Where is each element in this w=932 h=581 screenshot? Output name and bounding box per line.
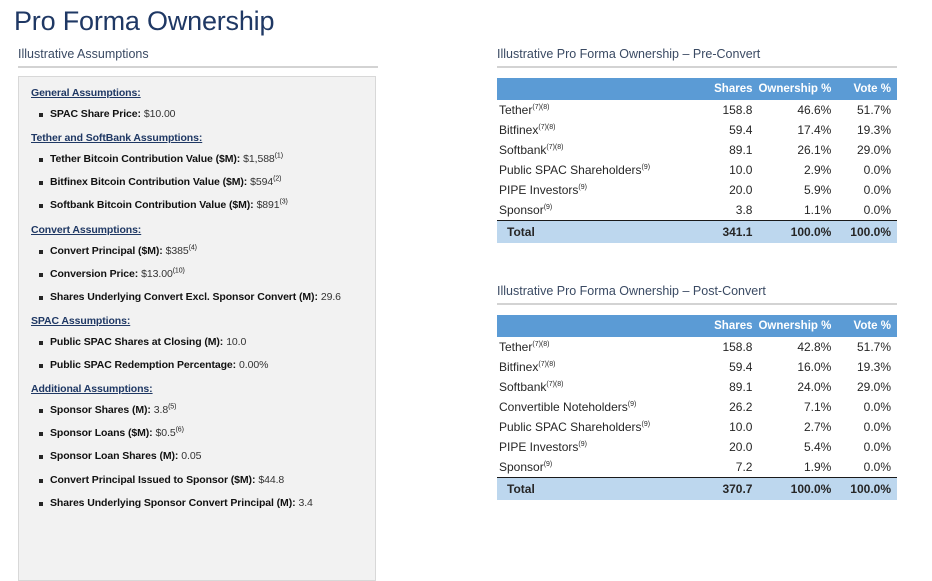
assumption-item: Public SPAC Shares at Closing (M):10.0 xyxy=(31,336,363,349)
assumptions-section-header: Illustrative Assumptions xyxy=(18,47,378,68)
assumption-value: $13.00 xyxy=(141,268,173,280)
assumption-value: 3.8 xyxy=(154,404,168,416)
table-row: Public SPAC Shareholders(9)10.02.9%0.0% xyxy=(497,160,897,180)
row-label: Tether(7)(8) xyxy=(497,100,689,120)
assumption-label: Sponsor Shares (M): xyxy=(50,404,151,416)
table-row: Softbank(7)(8)89.126.1%29.0% xyxy=(497,140,897,160)
footnote-ref: (9) xyxy=(578,184,587,191)
bullet-square-icon xyxy=(39,432,43,436)
column-header: Vote % xyxy=(837,78,897,100)
vote-value: 29.0% xyxy=(837,140,897,160)
shares-value: 89.1 xyxy=(689,377,758,397)
footnote-ref: (10) xyxy=(173,267,185,274)
ownership-tables-column: Illustrative Pro Forma Ownership – Pre-C… xyxy=(497,47,897,500)
row-label-text: Public SPAC Shareholders xyxy=(499,163,642,177)
column-header: Ownership % xyxy=(758,315,837,337)
shares-value: 89.1 xyxy=(689,140,758,160)
assumption-item: SPAC Share Price:$10.00 xyxy=(31,108,363,121)
bullet-square-icon xyxy=(39,158,43,162)
table-row: Public SPAC Shareholders(9)10.02.7%0.0% xyxy=(497,417,897,437)
row-label-text: Tether xyxy=(499,340,532,354)
ownership-value: 24.0% xyxy=(758,377,837,397)
total-shares-value: 341.1 xyxy=(689,221,758,244)
assumption-item: Bitfinex Bitcoin Contribution Value ($M)… xyxy=(31,176,363,189)
shares-value: 59.4 xyxy=(689,357,758,377)
assumption-label: Convert Principal ($M): xyxy=(50,245,163,257)
vote-value: 0.0% xyxy=(837,180,897,200)
ownership-value: 1.9% xyxy=(758,457,837,478)
table-row: Bitfinex(7)(8)59.417.4%19.3% xyxy=(497,120,897,140)
post-convert-table-block: Illustrative Pro Forma Ownership – Post-… xyxy=(497,284,897,500)
vote-value: 0.0% xyxy=(837,437,897,457)
assumption-item: Public SPAC Redemption Percentage:0.00% xyxy=(31,359,363,372)
shares-value: 26.2 xyxy=(689,397,758,417)
footnote-ref: (9) xyxy=(628,401,637,408)
row-label: Sponsor(9) xyxy=(497,200,689,221)
assumption-value: $0.5 xyxy=(156,427,176,439)
vote-value: 0.0% xyxy=(837,417,897,437)
row-label: Sponsor(9) xyxy=(497,457,689,478)
bullet-square-icon xyxy=(39,113,43,117)
table-row: Tether(7)(8)158.842.8%51.7% xyxy=(497,337,897,357)
footnote-ref: (7)(8) xyxy=(546,381,563,388)
footnote-ref: (9) xyxy=(578,441,587,448)
table-header-row: SharesOwnership %Vote % xyxy=(497,78,897,100)
total-label: Total xyxy=(497,478,689,501)
page-title: Pro Forma Ownership xyxy=(14,6,274,37)
column-header: Ownership % xyxy=(758,78,837,100)
row-label-text: PIPE Investors xyxy=(499,183,578,197)
ownership-value: 16.0% xyxy=(758,357,837,377)
assumption-item: Shares Underlying Convert Excl. Sponsor … xyxy=(31,291,363,304)
vote-value: 29.0% xyxy=(837,377,897,397)
assumption-group-title: Tether and SoftBank Assumptions: xyxy=(31,132,363,144)
assumption-value: $594 xyxy=(250,176,273,188)
bullet-square-icon xyxy=(39,364,43,368)
row-label: Convertible Noteholders(9) xyxy=(497,397,689,417)
ownership-value: 17.4% xyxy=(758,120,837,140)
assumption-item: Softbank Bitcoin Contribution Value ($M)… xyxy=(31,199,363,212)
bullet-square-icon xyxy=(39,409,43,413)
assumption-label: Softbank Bitcoin Contribution Value ($M)… xyxy=(50,199,254,211)
ownership-value: 42.8% xyxy=(758,337,837,357)
footnote-ref: (2) xyxy=(273,176,281,183)
bullet-square-icon xyxy=(39,250,43,254)
assumption-label: Sponsor Loans ($M): xyxy=(50,427,153,439)
footnote-ref: (9) xyxy=(642,164,651,171)
shares-value: 20.0 xyxy=(689,437,758,457)
shares-value: 158.8 xyxy=(689,100,758,120)
column-header: Vote % xyxy=(837,315,897,337)
assumption-group-title: Convert Assumptions: xyxy=(31,224,363,236)
assumption-value: 0.05 xyxy=(181,450,201,462)
assumption-label: Tether Bitcoin Contribution Value ($M): xyxy=(50,153,240,165)
assumption-label: Shares Underlying Convert Excl. Sponsor … xyxy=(50,291,318,303)
ownership-value: 46.6% xyxy=(758,100,837,120)
ownership-value: 2.7% xyxy=(758,417,837,437)
bullet-square-icon xyxy=(39,455,43,459)
assumption-label: Public SPAC Shares at Closing (M): xyxy=(50,336,223,348)
total-vote-value: 100.0% xyxy=(837,478,897,501)
ownership-value: 26.1% xyxy=(758,140,837,160)
row-label: Bitfinex(7)(8) xyxy=(497,357,689,377)
column-header xyxy=(497,78,689,100)
shares-value: 3.8 xyxy=(689,200,758,221)
bullet-square-icon xyxy=(39,296,43,300)
vote-value: 0.0% xyxy=(837,200,897,221)
table-row: Softbank(7)(8)89.124.0%29.0% xyxy=(497,377,897,397)
table-total-row: Total341.1100.0%100.0% xyxy=(497,221,897,244)
assumption-item: Conversion Price:$13.00(10) xyxy=(31,268,363,281)
footnote-ref: (7)(8) xyxy=(532,341,549,348)
assumption-group-title: SPAC Assumptions: xyxy=(31,315,363,327)
ownership-value: 2.9% xyxy=(758,160,837,180)
table-row: Sponsor(9)7.21.9%0.0% xyxy=(497,457,897,478)
assumption-value: $891 xyxy=(257,199,280,211)
row-label: PIPE Investors(9) xyxy=(497,437,689,457)
total-vote-value: 100.0% xyxy=(837,221,897,244)
assumption-item: Shares Underlying Sponsor Convert Princi… xyxy=(31,497,363,510)
shares-value: 10.0 xyxy=(689,417,758,437)
shares-value: 20.0 xyxy=(689,180,758,200)
total-ownership-value: 100.0% xyxy=(758,478,837,501)
total-shares-value: 370.7 xyxy=(689,478,758,501)
assumption-item: Tether Bitcoin Contribution Value ($M):$… xyxy=(31,153,363,166)
table-row: Tether(7)(8)158.846.6%51.7% xyxy=(497,100,897,120)
table-row: PIPE Investors(9)20.05.4%0.0% xyxy=(497,437,897,457)
assumptions-column: Illustrative Assumptions General Assumpt… xyxy=(18,47,378,581)
post-convert-section-header: Illustrative Pro Forma Ownership – Post-… xyxy=(497,284,897,305)
assumption-value: $44.8 xyxy=(258,474,284,486)
assumption-label: Shares Underlying Sponsor Convert Princi… xyxy=(50,497,296,509)
assumption-group-title: Additional Assumptions: xyxy=(31,383,363,395)
bullet-square-icon xyxy=(39,204,43,208)
assumption-value: 0.00% xyxy=(239,359,268,371)
row-label: PIPE Investors(9) xyxy=(497,180,689,200)
pre-convert-ownership-table: SharesOwnership %Vote %Tether(7)(8)158.8… xyxy=(497,78,897,243)
assumption-label: Public SPAC Redemption Percentage: xyxy=(50,359,236,371)
assumption-value: 3.4 xyxy=(299,497,313,509)
assumption-label: Sponsor Loan Shares (M): xyxy=(50,450,178,462)
ownership-value: 5.4% xyxy=(758,437,837,457)
row-label-text: Convertible Noteholders xyxy=(499,400,628,414)
row-label-text: Softbank xyxy=(499,380,546,394)
assumption-value: 10.0 xyxy=(226,336,246,348)
footnote-ref: (5) xyxy=(168,404,176,411)
bullet-square-icon xyxy=(39,502,43,506)
row-label-text: Bitfinex xyxy=(499,123,538,137)
bullet-square-icon xyxy=(39,341,43,345)
pre-convert-section-header: Illustrative Pro Forma Ownership – Pre-C… xyxy=(497,47,897,68)
row-label: Public SPAC Shareholders(9) xyxy=(497,160,689,180)
row-label-text: Tether xyxy=(499,103,532,117)
assumption-item: Sponsor Shares (M):3.8(5) xyxy=(31,404,363,417)
row-label: Public SPAC Shareholders(9) xyxy=(497,417,689,437)
bullet-square-icon xyxy=(39,181,43,185)
table-total-row: Total370.7100.0%100.0% xyxy=(497,478,897,501)
assumption-label: SPAC Share Price: xyxy=(50,108,141,120)
footnote-ref: (1) xyxy=(275,153,283,160)
assumption-group-title: General Assumptions: xyxy=(31,87,363,99)
footnote-ref: (9) xyxy=(642,421,651,428)
vote-value: 0.0% xyxy=(837,457,897,478)
table-row: Sponsor(9)3.81.1%0.0% xyxy=(497,200,897,221)
row-label: Softbank(7)(8) xyxy=(497,377,689,397)
ownership-value: 5.9% xyxy=(758,180,837,200)
assumption-value: $385 xyxy=(166,245,189,257)
footnote-ref: (6) xyxy=(176,427,184,434)
assumption-item: Convert Principal ($M):$385(4) xyxy=(31,245,363,258)
footnote-ref: (7)(8) xyxy=(546,144,563,151)
footnote-ref: (9) xyxy=(544,461,553,468)
total-ownership-value: 100.0% xyxy=(758,221,837,244)
assumption-value: $1,588 xyxy=(243,153,275,165)
row-label-text: Sponsor xyxy=(499,460,544,474)
table-header-row: SharesOwnership %Vote % xyxy=(497,315,897,337)
row-label: Softbank(7)(8) xyxy=(497,140,689,160)
row-label-text: Sponsor xyxy=(499,203,544,217)
assumption-label: Conversion Price: xyxy=(50,268,138,280)
assumption-value: $10.00 xyxy=(144,108,176,120)
bullet-square-icon xyxy=(39,479,43,483)
assumption-item: Sponsor Loan Shares (M):0.05 xyxy=(31,450,363,463)
footnote-ref: (7)(8) xyxy=(538,124,555,131)
row-label: Bitfinex(7)(8) xyxy=(497,120,689,140)
assumption-label: Bitfinex Bitcoin Contribution Value ($M)… xyxy=(50,176,247,188)
assumptions-panel: General Assumptions:SPAC Share Price:$10… xyxy=(18,76,376,581)
shares-value: 7.2 xyxy=(689,457,758,478)
footnote-ref: (7)(8) xyxy=(532,104,549,111)
column-header: Shares xyxy=(689,315,758,337)
footnote-ref: (4) xyxy=(189,244,197,251)
column-header: Shares xyxy=(689,78,758,100)
ownership-value: 7.1% xyxy=(758,397,837,417)
table-row: Bitfinex(7)(8)59.416.0%19.3% xyxy=(497,357,897,377)
assumption-value: 29.6 xyxy=(321,291,341,303)
row-label: Tether(7)(8) xyxy=(497,337,689,357)
vote-value: 51.7% xyxy=(837,100,897,120)
table-row: Convertible Noteholders(9)26.27.1%0.0% xyxy=(497,397,897,417)
assumption-item: Convert Principal Issued to Sponsor ($M)… xyxy=(31,474,363,487)
shares-value: 10.0 xyxy=(689,160,758,180)
pre-convert-table-block: Illustrative Pro Forma Ownership – Pre-C… xyxy=(497,47,897,243)
vote-value: 0.0% xyxy=(837,160,897,180)
table-row: PIPE Investors(9)20.05.9%0.0% xyxy=(497,180,897,200)
assumption-item: Sponsor Loans ($M):$0.5(6) xyxy=(31,427,363,440)
row-label-text: Public SPAC Shareholders xyxy=(499,420,642,434)
total-label: Total xyxy=(497,221,689,244)
vote-value: 19.3% xyxy=(837,357,897,377)
shares-value: 158.8 xyxy=(689,337,758,357)
bullet-square-icon xyxy=(39,273,43,277)
footnote-ref: (7)(8) xyxy=(538,361,555,368)
vote-value: 51.7% xyxy=(837,337,897,357)
row-label-text: Bitfinex xyxy=(499,360,538,374)
column-header xyxy=(497,315,689,337)
shares-value: 59.4 xyxy=(689,120,758,140)
row-label-text: Softbank xyxy=(499,143,546,157)
footnote-ref: (9) xyxy=(544,204,553,211)
row-label-text: PIPE Investors xyxy=(499,440,578,454)
ownership-value: 1.1% xyxy=(758,200,837,221)
assumption-label: Convert Principal Issued to Sponsor ($M)… xyxy=(50,474,255,486)
vote-value: 19.3% xyxy=(837,120,897,140)
footnote-ref: (3) xyxy=(280,199,288,206)
post-convert-ownership-table: SharesOwnership %Vote %Tether(7)(8)158.8… xyxy=(497,315,897,500)
vote-value: 0.0% xyxy=(837,397,897,417)
